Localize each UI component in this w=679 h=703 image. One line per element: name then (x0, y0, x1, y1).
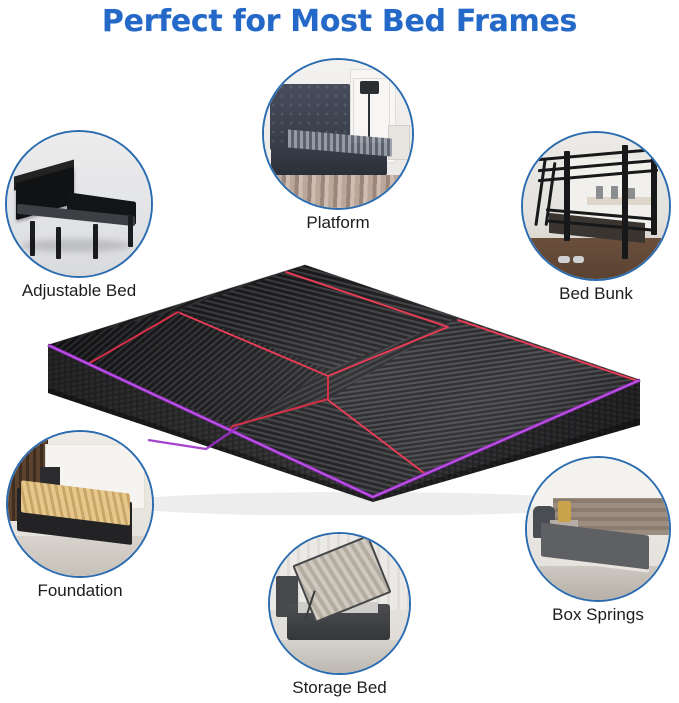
callout-label-bed-bunk: Bed Bunk (559, 284, 633, 304)
callout-storage-bed[interactable]: Storage Bed (268, 532, 411, 675)
callout-label-platform: Platform (306, 213, 369, 233)
platform-bed-photo (262, 58, 414, 210)
callout-label-box-springs: Box Springs (552, 605, 644, 625)
callout-label-adjustable-bed: Adjustable Bed (22, 281, 136, 301)
storage-bed-photo (268, 532, 411, 675)
callout-adjustable-bed[interactable]: Adjustable Bed (5, 130, 153, 278)
page-title: Perfect for Most Bed Frames (0, 4, 679, 39)
box-spring-photo (525, 456, 671, 602)
callout-platform[interactable]: Platform (262, 58, 414, 210)
foundation-slats-photo (6, 430, 154, 578)
bunk-bed-photo (521, 131, 671, 281)
callout-box-springs[interactable]: Box Springs (525, 456, 671, 602)
callout-label-storage-bed: Storage Bed (292, 678, 387, 698)
callout-bed-bunk[interactable]: Bed Bunk (521, 131, 671, 281)
adjustable-bed-photo (5, 130, 153, 278)
infographic-canvas: Perfect for Most Bed Frames (0, 0, 679, 703)
callout-label-foundation: Foundation (37, 581, 122, 601)
callout-foundation[interactable]: Foundation (6, 430, 154, 578)
